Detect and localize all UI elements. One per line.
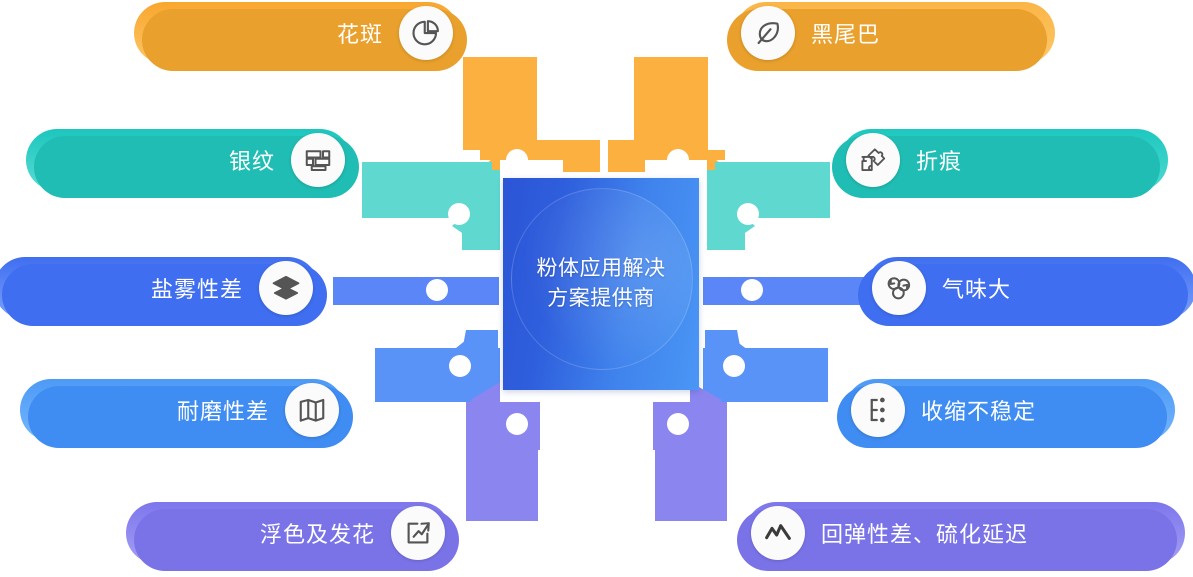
node-left-5[interactable]: 浮色及发花 bbox=[126, 502, 451, 564]
open-book-icon bbox=[285, 383, 339, 437]
node-right-3[interactable]: 气味大 bbox=[866, 257, 1193, 319]
connector-right-4 bbox=[703, 330, 828, 402]
line-chart-icon bbox=[751, 506, 805, 560]
recycle-icon bbox=[872, 261, 926, 315]
connector-left-2 bbox=[362, 162, 500, 250]
node-label: 银纹 bbox=[229, 144, 275, 176]
connector-left-5 bbox=[466, 382, 540, 521]
node-right-1[interactable]: 黑尾巴 bbox=[735, 2, 1055, 64]
brick-wall-icon bbox=[291, 133, 345, 187]
node-label: 花斑 bbox=[337, 17, 383, 49]
node-right-2[interactable]: 折痕 bbox=[840, 129, 1168, 191]
node-left-1[interactable]: 花斑 bbox=[134, 2, 459, 64]
node-left-3[interactable]: 盐雾性差 bbox=[0, 257, 319, 319]
node-right-5[interactable]: 回弹性差、硫化延迟 bbox=[745, 502, 1185, 564]
trending-up-icon bbox=[391, 506, 445, 560]
node-right-4[interactable]: 收缩不稳定 bbox=[845, 379, 1175, 441]
puzzle-piece-icon bbox=[846, 133, 900, 187]
center-node[interactable]: 粉体应用解决 方案提供商 bbox=[503, 178, 699, 390]
node-label: 收缩不稳定 bbox=[921, 394, 1036, 426]
leaf-icon bbox=[741, 6, 795, 60]
connector-right-2 bbox=[707, 162, 830, 250]
connector-right-3 bbox=[703, 277, 865, 305]
connector-left-3 bbox=[333, 277, 499, 305]
center-label: 粉体应用解决 方案提供商 bbox=[503, 178, 699, 390]
node-left-2[interactable]: 银纹 bbox=[26, 129, 351, 191]
node-label: 盐雾性差 bbox=[151, 272, 243, 304]
node-label: 折痕 bbox=[916, 144, 962, 176]
node-label: 浮色及发花 bbox=[260, 517, 375, 549]
node-label: 气味大 bbox=[942, 272, 1011, 304]
node-label: 回弹性差、硫化延迟 bbox=[821, 517, 1028, 549]
sitemap-icon bbox=[851, 383, 905, 437]
pie-chart-icon bbox=[399, 6, 453, 60]
node-label: 耐磨性差 bbox=[177, 394, 269, 426]
connector-left-4 bbox=[375, 330, 500, 402]
layers-icon bbox=[259, 261, 313, 315]
infographic-canvas: 粉体应用解决 方案提供商 花斑 银纹 盐雾性差 bbox=[0, 0, 1193, 577]
node-left-4[interactable]: 耐磨性差 bbox=[20, 379, 345, 441]
node-label: 黑尾巴 bbox=[811, 17, 880, 49]
connector-right-5 bbox=[653, 382, 727, 521]
